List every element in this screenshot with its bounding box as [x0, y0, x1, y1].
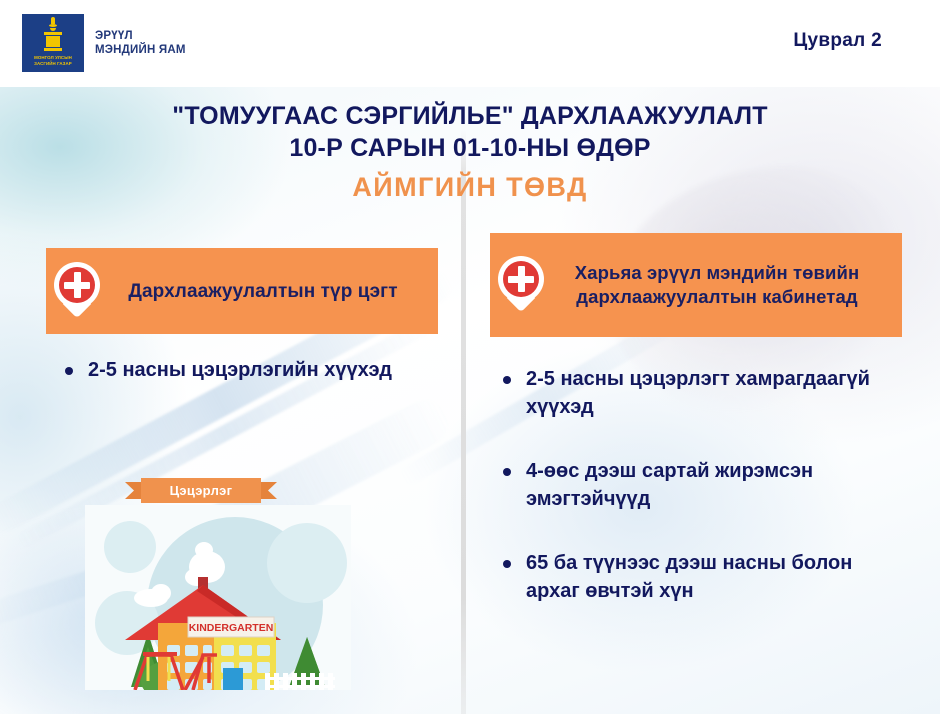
title-line-3: АЙМГИЙН ТӨВД: [0, 168, 940, 206]
government-logo: МОНГОЛ УЛСЫН ЗАСГИЙН ГАЗАР ЭРҮҮЛ МЭНДИЙН…: [22, 14, 186, 72]
series-label: Цуврал 2: [793, 30, 882, 52]
list-item: 65 ба түүнээс дээш насны болон архаг өвч…: [490, 549, 902, 605]
medical-map-pin-icon: [498, 256, 544, 314]
left-bullet-list: 2-5 насны цэцэрлэгийн хүүхэд: [52, 356, 438, 384]
right-bullet-list: 2-5 насны цэцэрлэгт хамрагдаагүй хүүхэд …: [490, 365, 902, 605]
list-item: 2-5 насны цэцэрлэгийн хүүхэд: [52, 356, 438, 384]
slide-root: МОНГОЛ УЛСЫН ЗАСГИЙН ГАЗАР ЭРҮҮЛ МЭНДИЙН…: [0, 0, 940, 714]
page-title: "ТОМУУГААС СЭРГИЙЛЬЕ" ДАРХЛААЖУУЛАЛТ 10-…: [0, 100, 940, 206]
right-card-title: Харьяа эрүүл мэндийн төвийн дархлаажуула…: [548, 261, 892, 309]
right-card-header: Харьяа эрүүл мэндийн төвийн дархлаажуула…: [490, 233, 902, 337]
ministry-name-line1: ЭРҮҮЛ: [95, 29, 186, 43]
left-card-header: Дархлаажуулалтын түр цэгт: [46, 248, 438, 334]
list-item: 2-5 насны цэцэрлэгт хамрагдаагүй хүүхэд: [490, 365, 902, 421]
medical-map-pin-icon: [54, 262, 100, 320]
emblem-caption: МОНГОЛ УЛСЫН ЗАСГИЙН ГАЗАР: [34, 55, 72, 66]
kindergarten-sign-text: KINDERGARTEN: [189, 622, 274, 634]
ministry-name: ЭРҮҮЛ МЭНДИЙН ЯАМ: [95, 29, 186, 57]
soyombo-icon: [42, 17, 64, 53]
title-line-2: 10-Р САРЫН 01-10-НЫ ӨДӨР: [0, 132, 940, 164]
title-line-1: "ТОМУУГААС СЭРГИЙЛЬЕ" ДАРХЛААЖУУЛАЛТ: [0, 100, 940, 132]
ribbon-label: Цэцэрлэг: [170, 483, 233, 498]
emblem-caption-line1: МОНГОЛ УЛСЫН: [34, 55, 72, 61]
mongolia-state-emblem-icon: МОНГОЛ УЛСЫН ЗАСГИЙН ГАЗАР: [22, 14, 84, 72]
kindergarten-canvas: KINDERGARTEN: [85, 505, 351, 690]
header-bar: МОНГОЛ УЛСЫН ЗАСГИЙН ГАЗАР ЭРҮҮЛ МЭНДИЙН…: [0, 0, 940, 87]
right-column: Харьяа эрүүл мэндийн төвийн дархлаажуула…: [490, 233, 902, 641]
kindergarten-illustration: Цэцэрлэг: [85, 505, 351, 690]
list-item: 4-өөс дээш сартай жирэмсэн эмэгтэйчүүд: [490, 457, 902, 513]
kindergarten-ribbon: Цэцэрлэг: [125, 478, 277, 503]
emblem-caption-line2: ЗАСГИЙН ГАЗАР: [34, 61, 72, 67]
kindergarten-svg: KINDERGARTEN: [85, 505, 351, 690]
left-column: Дархлаажуулалтын түр цэгт 2-5 насны цэцэ…: [46, 248, 438, 408]
column-divider: [461, 130, 466, 714]
left-card-title: Дархлаажуулалтын түр цэгт: [104, 279, 428, 304]
ministry-name-line2: МЭНДИЙН ЯАМ: [95, 43, 186, 57]
